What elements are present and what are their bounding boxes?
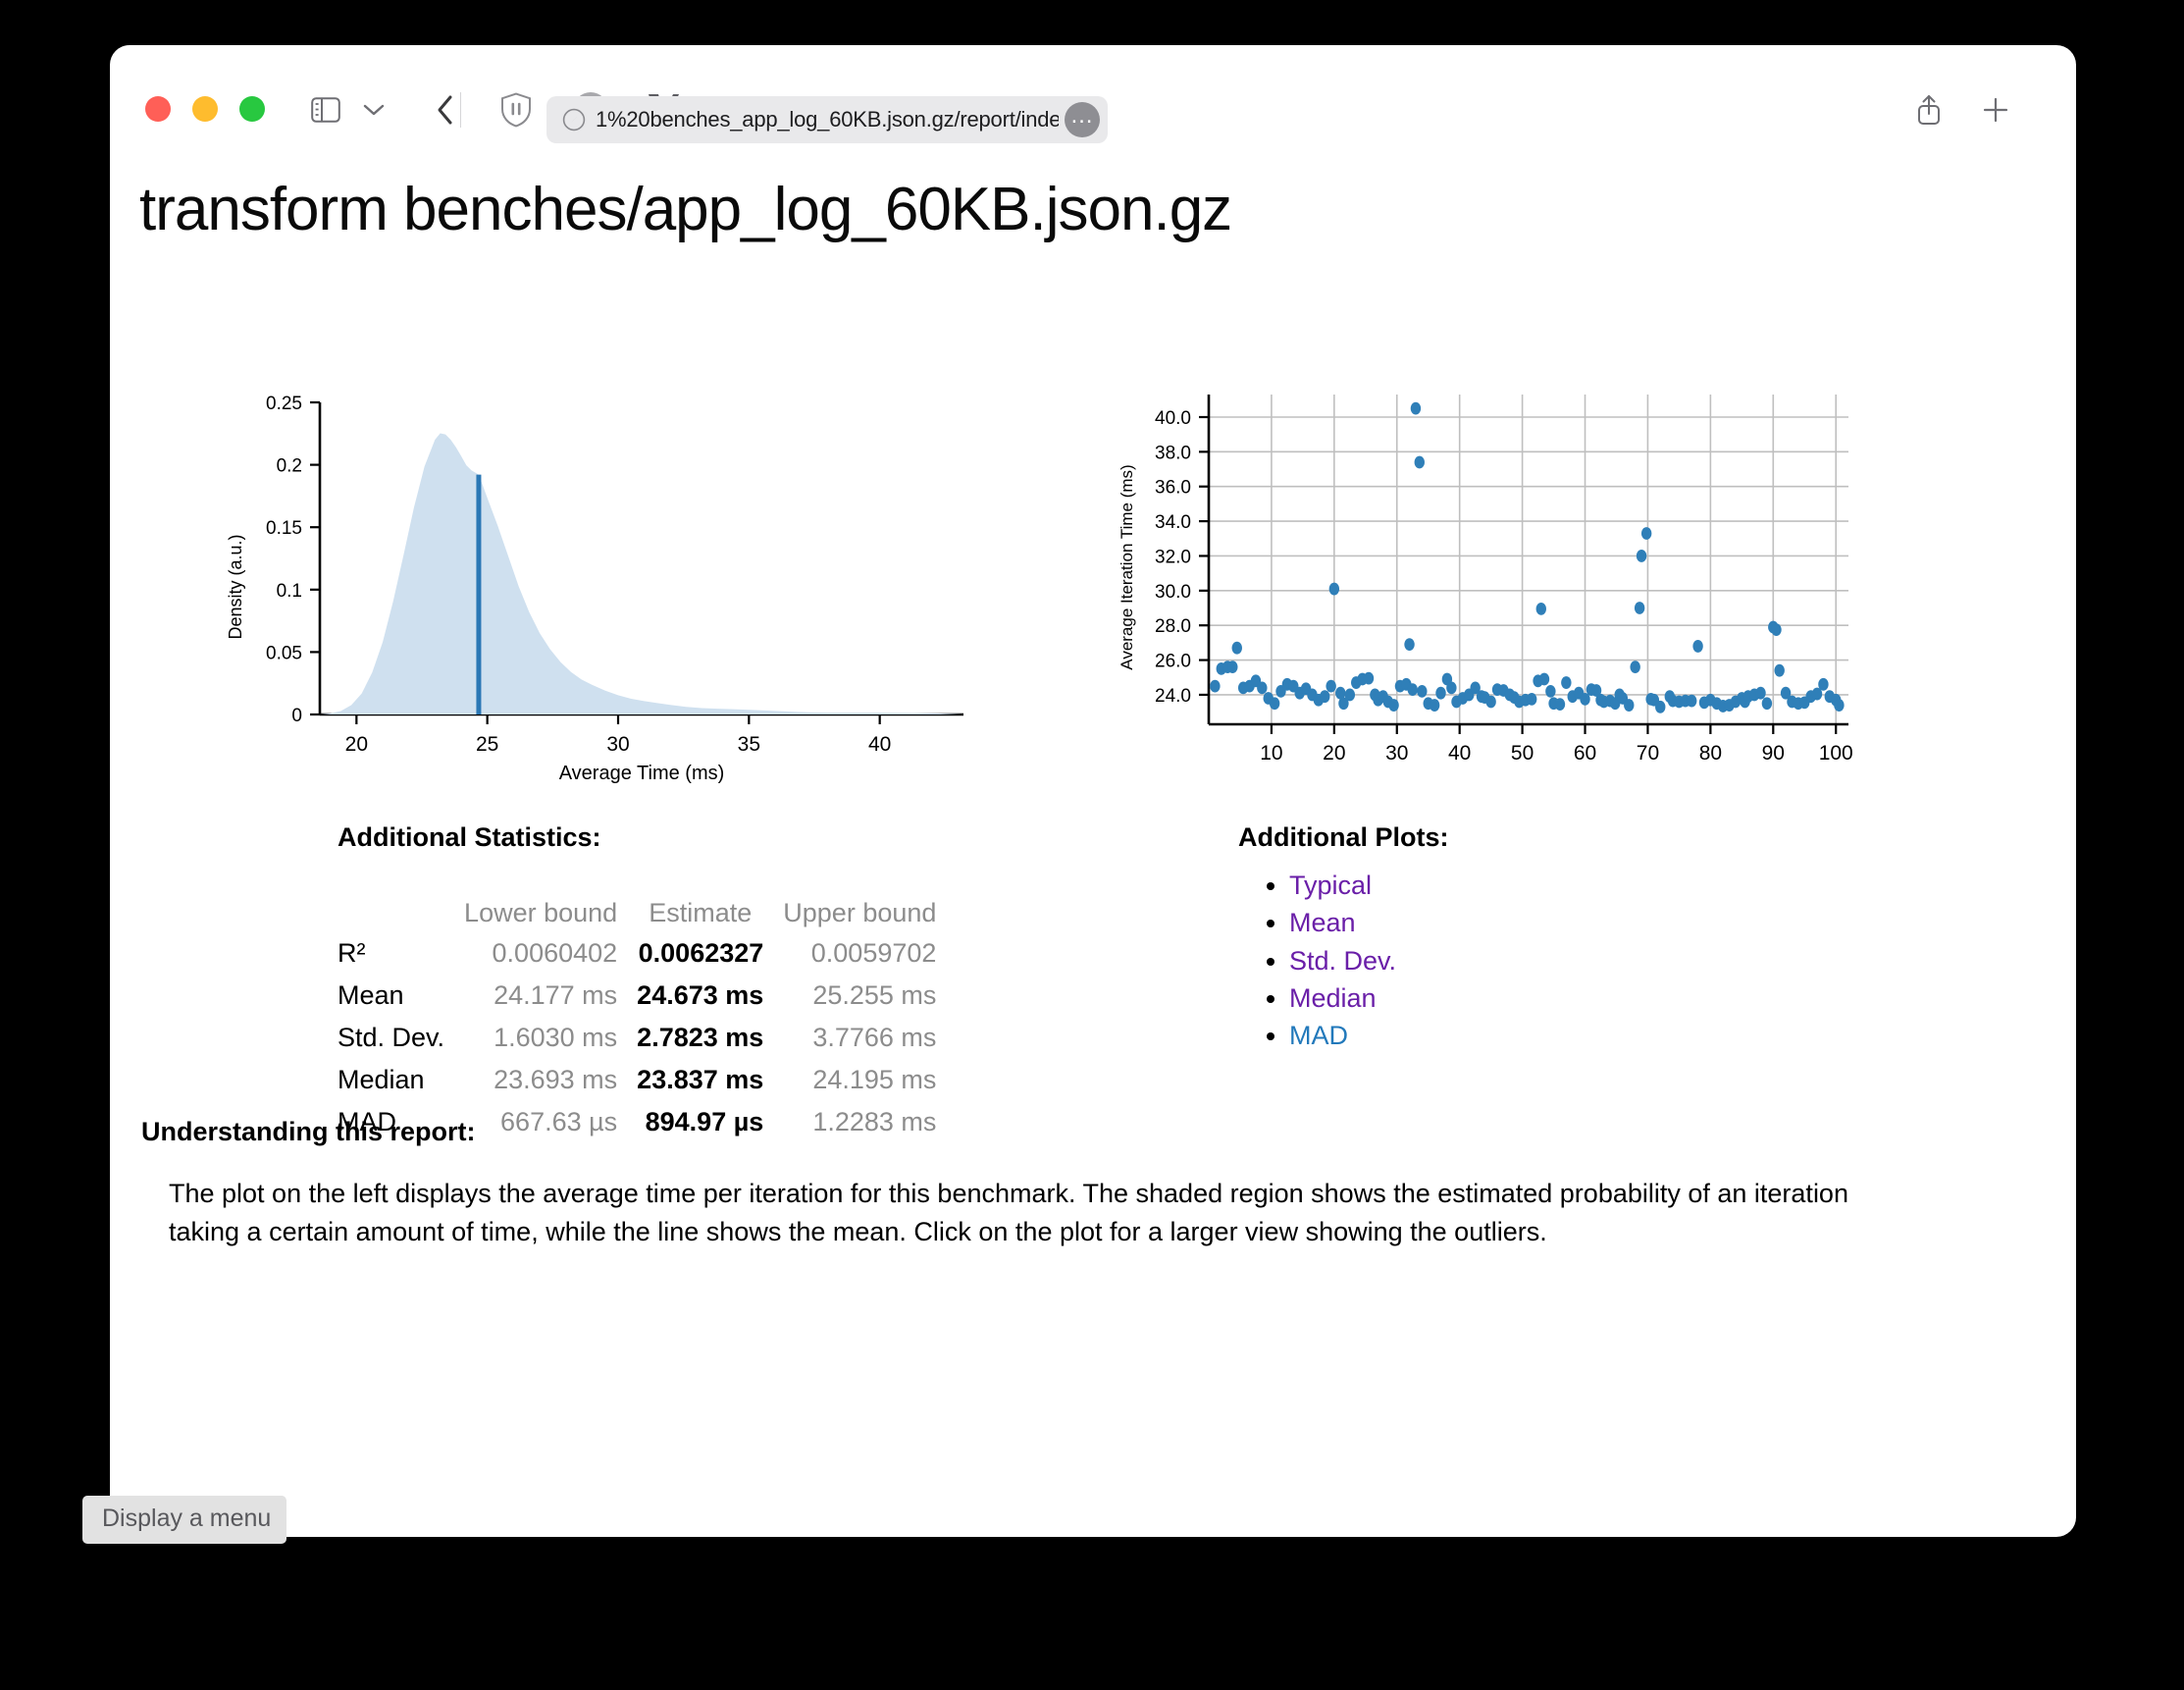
maximize-window-button[interactable] xyxy=(239,96,265,122)
statistics-table: Lower bound Estimate Upper bound R²0.006… xyxy=(338,894,946,1143)
svg-text:25: 25 xyxy=(476,733,498,756)
address-text[interactable]: 1%20benches_app_log_60KB.json.gz/report/… xyxy=(596,107,1059,132)
understanding-body: The plot on the left displays the averag… xyxy=(141,1175,1898,1251)
svg-text:26.0: 26.0 xyxy=(1155,652,1191,672)
additional-plot-link-typical[interactable]: Typical xyxy=(1289,871,1372,900)
stat-estimate: 23.837 ms xyxy=(627,1059,773,1101)
additional-plot-link-std-dev[interactable]: Std. Dev. xyxy=(1289,946,1396,976)
svg-text:34.0: 34.0 xyxy=(1155,512,1191,533)
shield-pause-icon[interactable] xyxy=(493,86,540,133)
stat-lower-bound: 24.177 ms xyxy=(454,975,627,1017)
scatter-point xyxy=(1641,527,1651,540)
svg-text:40: 40 xyxy=(1448,742,1471,765)
scatter-point xyxy=(1417,685,1427,698)
scatter-point xyxy=(1624,699,1634,712)
scatter-point xyxy=(1655,701,1665,713)
minimize-window-button[interactable] xyxy=(192,96,218,122)
additional-plots-heading: Additional Plots: xyxy=(1238,822,1448,853)
scatter-point xyxy=(1630,660,1639,673)
scatter-point xyxy=(1485,696,1495,709)
scatter-y-ticklabels: 24.026.028.030.032.034.036.038.040.0 xyxy=(1155,408,1191,707)
pdf-density-plot[interactable]: Density (a.u.) 0 0.05 xyxy=(218,381,1013,793)
svg-text:32.0: 32.0 xyxy=(1155,547,1191,567)
svg-text:36.0: 36.0 xyxy=(1155,478,1191,499)
page-title: transform benches/app_log_60KB.json.gz xyxy=(139,175,2106,244)
scatter-point xyxy=(1536,603,1546,615)
stat-row-label: Mean xyxy=(338,975,454,1017)
list-item: Median xyxy=(1289,979,1448,1017)
stat-upper-bound: 25.255 ms xyxy=(773,975,946,1017)
scatter-point xyxy=(1411,402,1421,415)
scatter-point xyxy=(1320,690,1329,703)
svg-text:0.2: 0.2 xyxy=(277,456,302,477)
list-item: Typical xyxy=(1289,867,1448,904)
svg-text:90: 90 xyxy=(1762,742,1785,765)
understanding-section: Understanding this report: The plot on t… xyxy=(141,1117,1898,1251)
stat-row-label: Std. Dev. xyxy=(338,1017,454,1059)
svg-text:10: 10 xyxy=(1260,742,1282,765)
additional-statistics-heading: Additional Statistics: xyxy=(338,822,946,853)
stat-upper-bound: 0.0059702 xyxy=(773,932,946,975)
table-header-row: Lower bound Estimate Upper bound xyxy=(338,894,946,932)
pdf-y-axis-label: Density (a.u.) xyxy=(226,534,245,639)
close-window-button[interactable] xyxy=(145,96,171,122)
scatter-point xyxy=(1637,550,1646,562)
svg-text:0.05: 0.05 xyxy=(266,643,302,663)
scatter-point xyxy=(1771,623,1781,636)
additional-plots-block: Additional Plots: TypicalMeanStd. Dev.Me… xyxy=(1238,822,1448,1055)
svg-text:30.0: 30.0 xyxy=(1155,582,1191,603)
scatter-point xyxy=(1326,680,1335,693)
scatter-point xyxy=(1527,693,1536,706)
sidebar-icon[interactable] xyxy=(302,86,349,133)
svg-text:38.0: 38.0 xyxy=(1155,443,1191,463)
svg-text:0.1: 0.1 xyxy=(277,581,302,602)
pdf-y-ticklabels: 0 0.05 0.1 0.15 0.2 0.25 xyxy=(266,394,302,726)
svg-text:35: 35 xyxy=(738,733,760,756)
additional-plots-list: TypicalMeanStd. Dev.MedianMAD xyxy=(1238,867,1448,1055)
scatter-point xyxy=(1435,687,1445,700)
scatter-point xyxy=(1818,678,1828,691)
scatter-point xyxy=(1430,699,1439,712)
stat-lower-bound: 0.0060402 xyxy=(454,932,627,975)
scatter-point xyxy=(1635,602,1644,614)
list-item: Std. Dev. xyxy=(1289,942,1448,979)
svg-text:30: 30 xyxy=(1385,742,1408,765)
additional-plot-link-mad[interactable]: MAD xyxy=(1289,1021,1348,1050)
table-row: Mean24.177 ms24.673 ms25.255 ms xyxy=(338,975,946,1017)
svg-text:0.15: 0.15 xyxy=(266,518,302,539)
list-item: MAD xyxy=(1289,1017,1448,1054)
ellipsis-icon[interactable]: … xyxy=(1065,102,1100,137)
scatter-point xyxy=(1408,683,1418,696)
svg-text:40.0: 40.0 xyxy=(1155,408,1191,429)
scatter-point xyxy=(1227,660,1237,673)
scatter-y-axis-label: Average Iteration Time (ms) xyxy=(1118,464,1136,669)
scatter-point xyxy=(1404,638,1414,651)
browser-window: 1%20benches_app_log_60KB.json.gz/report/… xyxy=(110,45,2076,1537)
scatter-points xyxy=(1210,402,1844,713)
menu-tooltip: Display a menu xyxy=(82,1496,286,1544)
additional-statistics-block: Additional Statistics: Lower bound Estim… xyxy=(338,822,946,1143)
compass-icon xyxy=(562,108,586,132)
scatter-point xyxy=(1232,642,1242,655)
back-icon[interactable] xyxy=(422,86,469,133)
window-controls xyxy=(145,96,265,122)
stat-header-upper: Upper bound xyxy=(773,894,946,932)
stat-row-label: Median xyxy=(338,1059,454,1101)
pdf-x-axis-label: Average Time (ms) xyxy=(559,763,725,784)
scatter-point xyxy=(1210,680,1220,693)
share-icon[interactable] xyxy=(1905,86,1952,133)
svg-text:40: 40 xyxy=(868,733,891,756)
scatter-point xyxy=(1415,456,1425,469)
scatter-point xyxy=(1561,676,1571,689)
new-tab-icon[interactable] xyxy=(1972,86,2019,133)
table-row: Median23.693 ms23.837 ms24.195 ms xyxy=(338,1059,946,1101)
scatter-point xyxy=(1755,687,1765,700)
scatter-point xyxy=(1762,697,1772,710)
additional-plot-link-mean[interactable]: Mean xyxy=(1289,908,1356,937)
stat-header-estimate: Estimate xyxy=(627,894,773,932)
stat-header-lower: Lower bound xyxy=(454,894,627,932)
stat-estimate: 2.7823 ms xyxy=(627,1017,773,1059)
scatter-point xyxy=(1388,699,1398,712)
stat-row-label: R² xyxy=(338,932,454,975)
scatter-point xyxy=(1692,640,1702,653)
scatter-point xyxy=(1687,695,1696,708)
scatter-point xyxy=(1539,673,1549,686)
stat-upper-bound: 3.7766 ms xyxy=(773,1017,946,1059)
svg-text:0.25: 0.25 xyxy=(266,394,302,414)
scatter-point xyxy=(1834,699,1844,712)
browser-toolbar: 1%20benches_app_log_60KB.json.gz/report/… xyxy=(110,45,2076,135)
svg-text:70: 70 xyxy=(1637,742,1659,765)
svg-text:20: 20 xyxy=(1323,742,1345,765)
pdf-density-area xyxy=(320,433,963,714)
scatter-point xyxy=(1257,681,1267,694)
page-body: transform benches/app_log_60KB.json.gz D… xyxy=(110,135,2076,1537)
chevron-down-icon[interactable] xyxy=(350,86,397,133)
scatter-point xyxy=(1545,685,1555,698)
additional-plot-link-median[interactable]: Median xyxy=(1289,983,1377,1013)
svg-text:60: 60 xyxy=(1574,742,1596,765)
stat-estimate: 0.0062327 xyxy=(627,932,773,975)
table-row: Std. Dev.1.6030 ms2.7823 ms3.7766 ms xyxy=(338,1017,946,1059)
iteration-times-scatter[interactable]: Average Iteration Time (ms) 24.026.028.0… xyxy=(1111,381,1886,793)
pdf-x-ticklabels: 2025303540 xyxy=(345,733,892,756)
svg-text:20: 20 xyxy=(345,733,368,756)
scatter-x-ticklabels: 102030405060708090100 xyxy=(1260,742,1852,765)
list-item: Mean xyxy=(1289,904,1448,941)
svg-text:28.0: 28.0 xyxy=(1155,616,1191,637)
svg-text:50: 50 xyxy=(1511,742,1534,765)
scatter-point xyxy=(1270,697,1279,710)
scatter-point xyxy=(1345,689,1355,702)
stat-upper-bound: 24.195 ms xyxy=(773,1059,946,1101)
stat-lower-bound: 23.693 ms xyxy=(454,1059,627,1101)
svg-text:0: 0 xyxy=(291,706,302,726)
svg-text:24.0: 24.0 xyxy=(1155,686,1191,707)
svg-text:30: 30 xyxy=(606,733,629,756)
scatter-point xyxy=(1446,681,1456,694)
scatter-point xyxy=(1364,672,1374,685)
table-row: R²0.00604020.00623270.0059702 xyxy=(338,932,946,975)
svg-text:100: 100 xyxy=(1819,742,1853,765)
scatter-point xyxy=(1774,664,1784,677)
stat-header-blank xyxy=(338,894,454,932)
understanding-heading: Understanding this report: xyxy=(141,1117,1898,1147)
scatter-point xyxy=(1329,583,1339,596)
stat-estimate: 24.673 ms xyxy=(627,975,773,1017)
stat-lower-bound: 1.6030 ms xyxy=(454,1017,627,1059)
scatter-point xyxy=(1555,698,1565,711)
svg-text:80: 80 xyxy=(1699,742,1722,765)
